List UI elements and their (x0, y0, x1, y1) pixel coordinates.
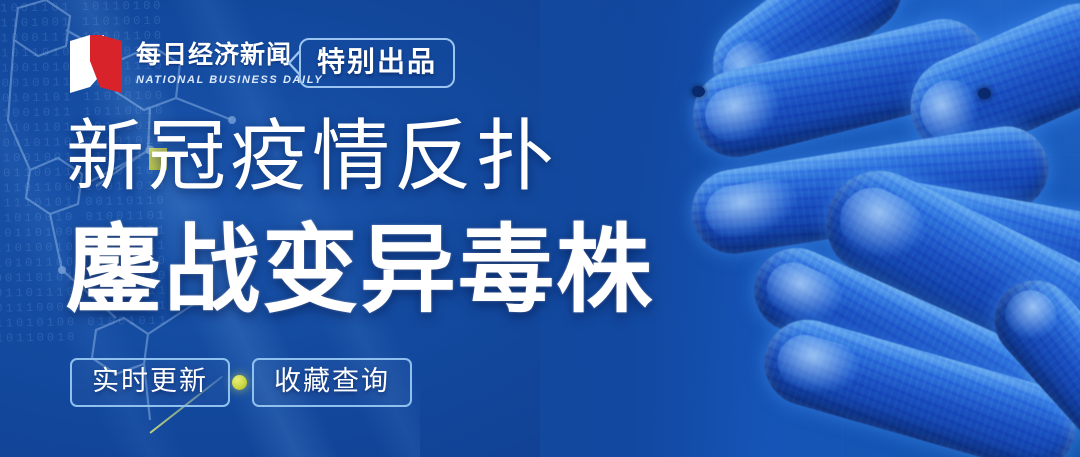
badge-label: 特别出品 (299, 38, 455, 88)
news-banner: 01001101 10110100 01101001 11010010 0100… (0, 0, 1080, 457)
banner-content: 每日经济新闻 NATIONAL BUSINESS DAILY 特别出品 新冠疫情… (0, 0, 1080, 457)
favorites-query-button[interactable]: 收藏查询 (252, 358, 412, 407)
brand-logo[interactable]: 每日经济新闻 NATIONAL BUSINESS DAILY (66, 31, 323, 97)
headline-line-1: 新冠疫情反扑 (66, 118, 558, 196)
headline-line-2: 鏖战变异毒株 (66, 222, 654, 318)
n-monogram-logo (66, 31, 126, 97)
special-edition-badge: 特别出品 (287, 38, 455, 88)
realtime-update-button[interactable]: 实时更新 (70, 358, 230, 407)
action-button-row: 实时更新 收藏查询 (70, 358, 412, 407)
